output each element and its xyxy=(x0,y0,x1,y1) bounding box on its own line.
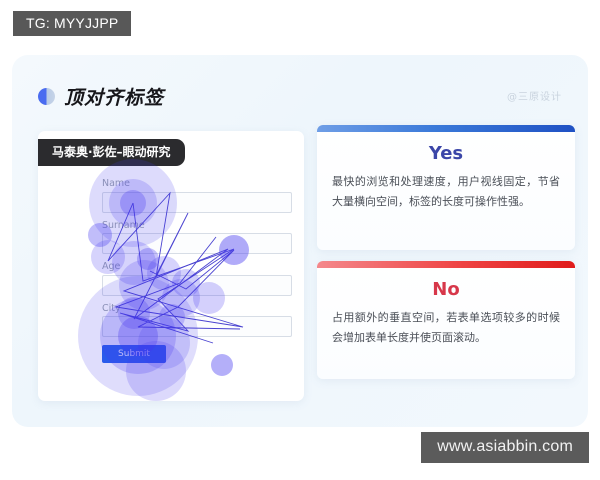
form-mock: Name Surname Age City Submit xyxy=(102,179,292,363)
gaze-plot-card: 马泰奥·彭佐–眼动研究 Name Surname Age City Submit xyxy=(38,131,304,401)
form-field-name: Name xyxy=(102,179,292,213)
field-label-surname: Surname xyxy=(102,221,292,231)
field-label-city: City xyxy=(102,304,292,314)
form-field-age: Age xyxy=(102,262,292,296)
site-watermark-tag: www.asiabbin.com xyxy=(421,432,589,463)
study-label-tag: 马泰奥·彭佐–眼动研究 xyxy=(38,139,185,166)
verdict-bar-yes xyxy=(317,125,575,132)
two-tone-circle-icon xyxy=(38,88,55,105)
verdict-body-no: 占用额外的垂直空间，若表单选项较多的时候会增加表单长度并使页面滚动。 xyxy=(317,299,575,349)
field-input-age[interactable] xyxy=(102,275,292,296)
brand-watermark: @三原设计 xyxy=(507,88,562,103)
main-panel: 顶对齐标签 @三原设计 马泰奥·彭佐–眼动研究 Name Surname Age… xyxy=(12,55,588,427)
verdict-title-no: No xyxy=(317,281,575,299)
verdict-card-no: No 占用额外的垂直空间，若表单选项较多的时候会增加表单长度并使页面滚动。 xyxy=(317,261,575,379)
tg-tag: TG: MYYJJPP xyxy=(13,11,131,36)
page-title: 顶对齐标签 xyxy=(64,83,164,110)
form-field-surname: Surname xyxy=(102,221,292,255)
verdict-body-yes: 最快的浏览和处理速度，用户视线固定，节省大量横向空间，标签的长度可操作性强。 xyxy=(317,163,575,213)
verdict-bar-no xyxy=(317,261,575,268)
verdict-card-yes: Yes 最快的浏览和处理速度，用户视线固定，节省大量横向空间，标签的长度可操作性… xyxy=(317,125,575,250)
field-input-name[interactable] xyxy=(102,192,292,213)
panel-header: 顶对齐标签 xyxy=(38,83,164,110)
field-label-age: Age xyxy=(102,262,292,272)
field-label-name: Name xyxy=(102,179,292,189)
field-input-city[interactable] xyxy=(102,316,292,337)
form-field-city: City xyxy=(102,304,292,338)
field-input-surname[interactable] xyxy=(102,233,292,254)
verdict-title-yes: Yes xyxy=(317,145,575,163)
submit-button[interactable]: Submit xyxy=(102,345,166,363)
